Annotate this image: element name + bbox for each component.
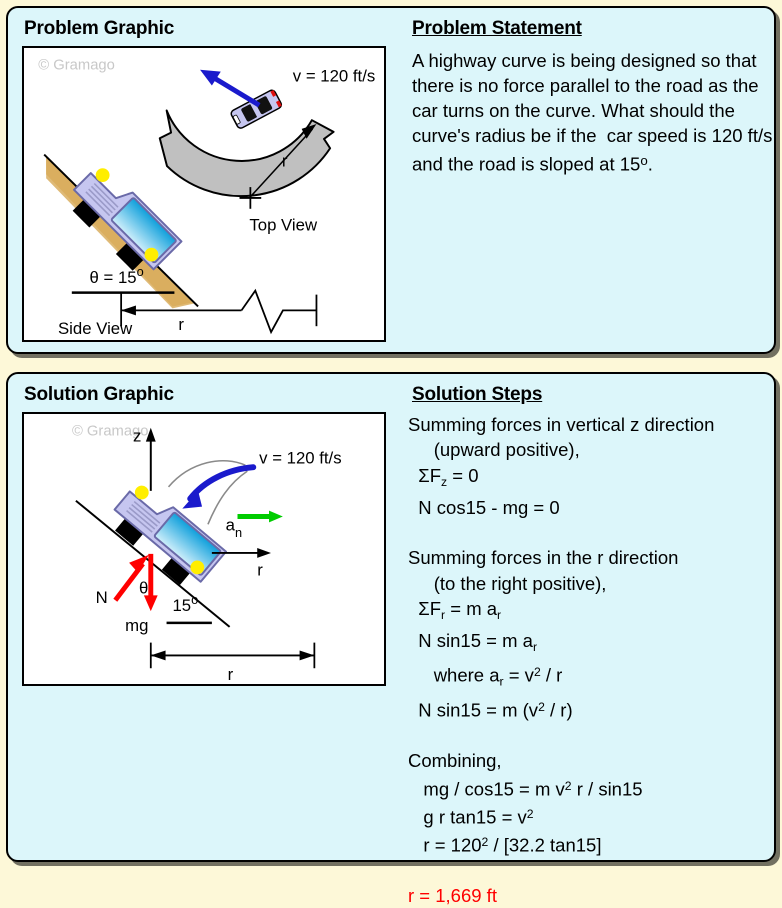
problem-panel: Problem Graphic © Gramago <box>6 6 776 354</box>
top-view-radius-label: r <box>282 151 288 170</box>
solution-step-line: r = 1202 / [32.2 tan15] <box>408 830 780 858</box>
problem-graphic-column: Problem Graphic © Gramago <box>8 8 400 352</box>
solution-step-line: where ar = v2 / r <box>408 660 780 695</box>
velocity-arrow <box>200 70 259 106</box>
solution-step-line: ΣFr = m ar <box>408 596 780 628</box>
solution-step-line <box>408 857 780 882</box>
side-view-radius-dimension <box>121 291 316 332</box>
solution-step-line: N sin15 = m ar <box>408 628 780 660</box>
solution-step-line: N sin15 = m (v2 / r) <box>408 695 780 723</box>
solution-panel: Solution Graphic © Gramago z <box>6 372 776 862</box>
solution-step-line: Summing forces in vertical z direction <box>408 412 780 437</box>
solution-steps-title: Solution Steps <box>412 384 542 406</box>
solution-step-line: (upward positive), <box>408 437 780 462</box>
side-view-car <box>63 162 182 281</box>
solution-step-line: Combining, <box>408 748 780 773</box>
top-view-label: Top View <box>249 215 318 234</box>
weight-label: mg <box>125 616 148 635</box>
solution-step-line: mg / cos15 = m v2 r / sin15 <box>408 774 780 802</box>
problem-statement-body: A highway curve is being designed so tha… <box>412 48 778 177</box>
problem-statement-title: Problem Statement <box>412 18 582 40</box>
side-view-label: Side View <box>58 319 133 338</box>
problem-statement-column: Problem Statement A highway curve is bei… <box>400 8 774 352</box>
page-root: Problem Graphic © Gramago <box>0 0 782 868</box>
solution-graphic-column: Solution Graphic © Gramago z <box>8 374 400 860</box>
solution-graphic-canvas: © Gramago z <box>22 412 386 686</box>
problem-graphic-svg: © Gramago <box>24 48 384 340</box>
solution-step-line: Summing forces in the r direction <box>408 545 780 570</box>
solution-radius-label: r <box>228 665 234 684</box>
theta-label: θ <box>139 578 148 597</box>
solution-step-line: ΣFz = 0 <box>408 463 780 495</box>
solution-graphic-title: Solution Graphic <box>24 384 174 406</box>
velocity-label-2: v = 120 ft/s <box>259 448 341 467</box>
solution-step-line: g r tan15 = v2 <box>408 802 780 830</box>
normal-acceleration-arrow <box>238 511 283 523</box>
solution-steps-list: Summing forces in vertical z direction (… <box>408 412 780 908</box>
velocity-arrow-2 <box>182 467 253 508</box>
side-view-radius-label: r <box>178 315 184 334</box>
solution-step-line: N cos15 - mg = 0 <box>408 495 780 520</box>
solution-step-line: (to the right positive), <box>408 571 780 596</box>
problem-graphic-canvas: © Gramago <box>22 46 386 342</box>
incline-angle-label: 15o <box>172 592 198 615</box>
z-axis-label: z <box>133 427 141 446</box>
solution-step-line <box>408 723 780 748</box>
watermark-text: © Gramago <box>38 58 115 74</box>
solution-step-line <box>408 520 780 545</box>
side-view-angle-label: θ = 15o <box>90 264 144 287</box>
solution-car <box>104 479 226 593</box>
r-axis-label: r <box>257 561 263 580</box>
solution-steps-column: Solution Steps Summing forces in vertica… <box>400 374 774 860</box>
accel-label: an <box>226 515 242 540</box>
problem-graphic-title: Problem Graphic <box>24 18 174 40</box>
solution-graphic-svg: © Gramago z <box>24 414 384 684</box>
velocity-label: v = 120 ft/s <box>293 67 375 86</box>
normal-force-label: N <box>96 588 108 607</box>
degree-symbol: o <box>640 153 647 168</box>
solution-answer-line: r = 1,669 ft <box>408 883 780 908</box>
